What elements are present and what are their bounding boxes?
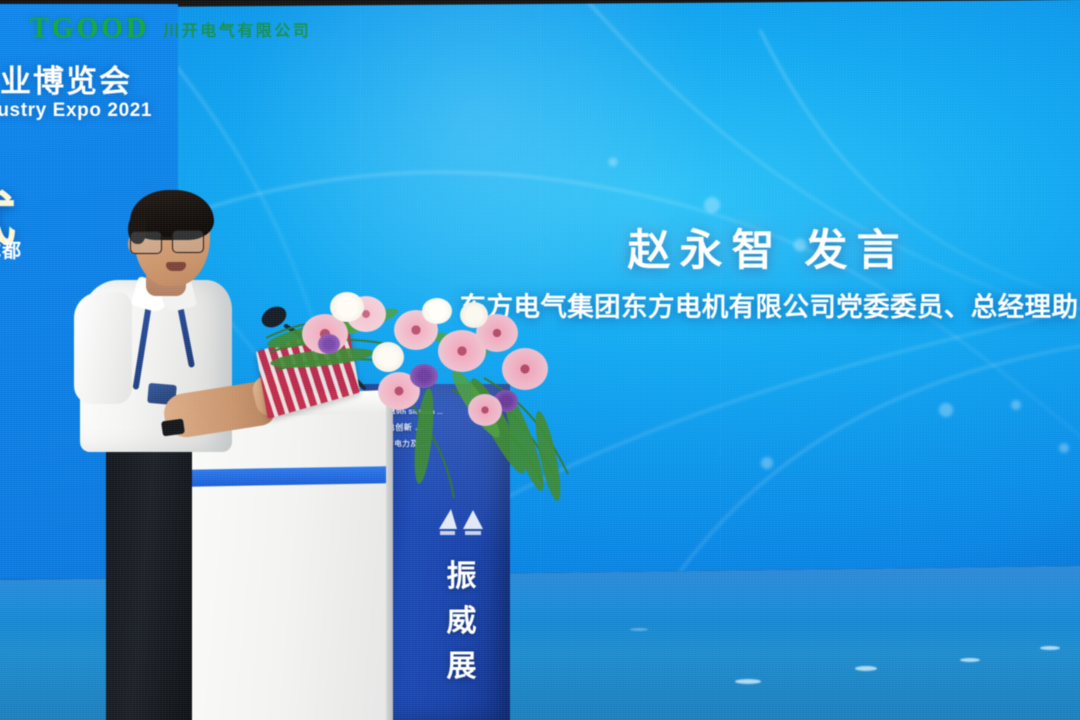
glasses-lens-right: [172, 230, 204, 253]
flower-white-chrysanthemum: [372, 342, 404, 372]
banner-title-cn: 力产业博览会: [0, 56, 178, 101]
flower-pink-gerbera: [502, 348, 548, 390]
zhenwei-logo-icon: [435, 503, 489, 537]
flower-white-chrysanthemum: [460, 302, 488, 328]
floor-glint: [855, 666, 877, 671]
tgood-wordmark: TGOOD: [30, 13, 149, 45]
speaker-trousers: [106, 436, 192, 720]
floor-glint: [1040, 646, 1060, 650]
glasses-lens-left: [130, 231, 162, 254]
sponsor-company-name-cn: 川开电气有限公司: [163, 17, 311, 41]
glasses-bridge: [160, 237, 172, 239]
flower-purple-orchid: [318, 334, 340, 354]
glasses-icon: [130, 228, 214, 254]
brand-char: 振: [430, 554, 494, 599]
mouth: [166, 262, 186, 271]
speaker-name: 赵永智 发言: [456, 228, 1080, 275]
flower-white-chrysanthemum: [330, 292, 364, 322]
floor-glint: [630, 628, 648, 631]
flower-purple-orchid: [410, 364, 438, 388]
brand-char: 展: [430, 644, 494, 689]
floor-glint: [735, 679, 761, 684]
banner-title-en: er Industry Expo 2021: [0, 100, 178, 122]
banner-city: 成都: [0, 236, 22, 263]
floor-glint: [960, 658, 980, 662]
conference-stage-photo: 力产业博览会 er Industry Expo 2021 式 成都 TGOOD …: [0, 0, 1080, 720]
sponsor-logo: TGOOD 川开电气有限公司: [30, 14, 311, 44]
brand-char: 威: [430, 599, 494, 644]
flower-pink-gerbera: [468, 394, 502, 426]
flower-arrangement: [262, 286, 592, 506]
podium-vertical-brand: 振 威 展: [430, 500, 494, 689]
podium-brand-characters: 振 威 展: [430, 554, 494, 689]
speaker-sleeve: [74, 292, 132, 404]
flower-white-chrysanthemum: [422, 298, 452, 324]
wristwatch: [161, 419, 185, 437]
